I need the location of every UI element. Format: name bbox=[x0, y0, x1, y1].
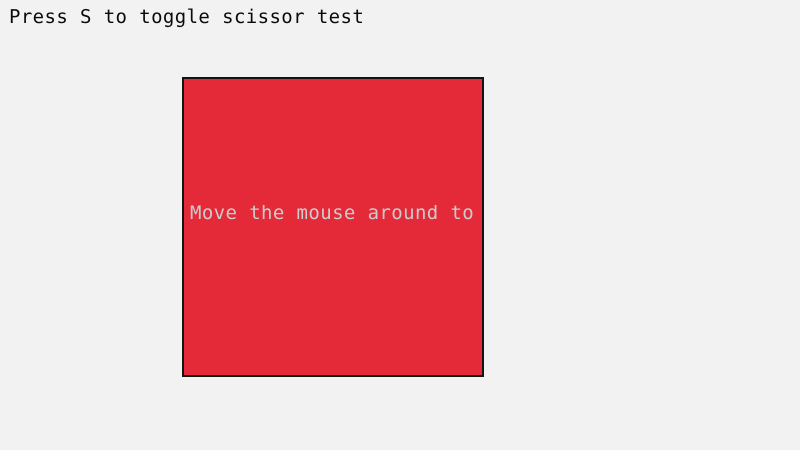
scissor-clip-region: Move the mouse around to r bbox=[184, 79, 482, 375]
clipped-instruction-text: Move the mouse around to r bbox=[190, 201, 482, 225]
scissor-test-hint-label: Press S to toggle scissor test bbox=[9, 5, 364, 30]
demo-canvas: Press S to toggle scissor test Move the … bbox=[0, 0, 800, 450]
scissor-test-rectangle[interactable]: Move the mouse around to r bbox=[182, 77, 484, 377]
